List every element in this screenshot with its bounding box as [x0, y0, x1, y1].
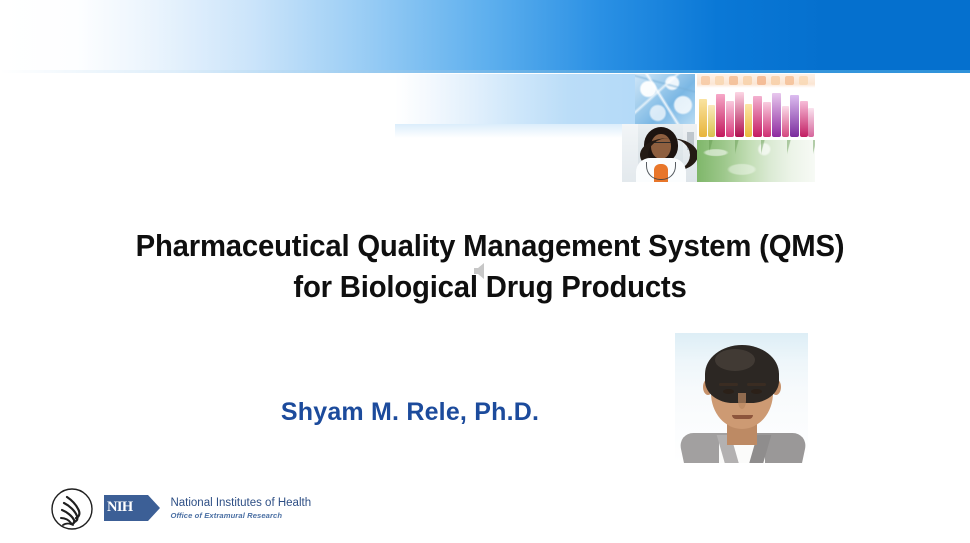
nih-logo: NIH National Institutes of Health Office…: [104, 495, 311, 525]
doctor-portrait-image: [622, 124, 697, 182]
presenter-headshot: [675, 333, 808, 463]
speaker-icon[interactable]: [473, 262, 493, 280]
hhs-logo: [50, 487, 98, 532]
nih-badge: NIH: [104, 495, 148, 521]
green-botanical-image: [697, 140, 815, 182]
nih-chevron-icon: [148, 495, 160, 521]
test-tubes-image: [697, 74, 815, 137]
header-banner-underline: [0, 70, 970, 73]
nih-badge-text: NIH: [107, 499, 133, 516]
header-light-bar-fade: [395, 124, 635, 138]
presentation-slide: Pharmaceutical Quality Management System…: [0, 0, 970, 543]
nih-subtitle: Office of Extramural Research: [170, 510, 311, 521]
nih-wordmark: National Institutes of Health Office of …: [170, 495, 311, 521]
presenter-name: Shyam M. Rele, Ph.D.: [160, 398, 660, 427]
header-light-bar: [395, 74, 635, 124]
molecular-lab-image: [635, 74, 695, 124]
nih-title: National Institutes of Health: [170, 496, 311, 510]
header-banner: [0, 0, 970, 70]
